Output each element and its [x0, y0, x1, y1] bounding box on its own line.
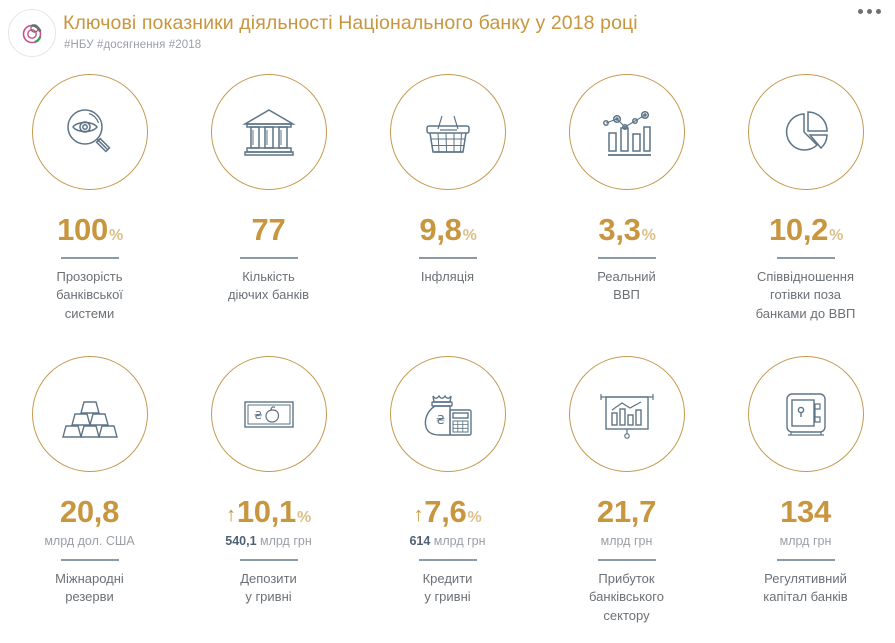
metric-card-inflation: 9,8 % Інфляція — [358, 74, 537, 323]
percent-sign: % — [467, 510, 481, 526]
money-bag-calculator-icon: ₴ — [390, 356, 506, 472]
divider — [61, 257, 119, 259]
metric-card-deposits: ₴ ↑ 10,1 % 540,1 млрд грн Депозити у гри… — [179, 356, 358, 625]
percent-sign: % — [297, 510, 311, 526]
metrics-row-1: 100 % Прозорість банківської системи 77 — [0, 74, 895, 323]
svg-text:₴: ₴ — [254, 409, 263, 422]
value-number: 100 — [57, 214, 108, 245]
banknote-hryvnia-icon: ₴ — [211, 356, 327, 472]
metric-value: 134 — [779, 496, 832, 527]
metric-value: 100 % — [56, 214, 123, 245]
value-number: 10,2 — [769, 214, 828, 245]
shopping-basket-icon — [390, 74, 506, 190]
more-options-icon[interactable] — [858, 9, 881, 14]
bank-building-icon — [211, 74, 327, 190]
metric-card-regulatory-capital: 134 млрд грн Регулятивний капітал банків — [716, 356, 895, 625]
value-number: 10,1 — [237, 496, 296, 527]
unit-text: млрд грн — [430, 534, 485, 548]
metric-card-banks-count: 77 Кількість діючих банків — [179, 74, 358, 323]
value-number: 9,8 — [419, 214, 461, 245]
nbu-logo — [8, 9, 56, 57]
unit-text: млрд дол. США — [44, 534, 134, 548]
metric-label: Кредити у гривні — [423, 570, 473, 607]
divider — [240, 559, 298, 561]
value-number: 134 — [780, 496, 831, 527]
unit-emphasis: 614 — [409, 534, 430, 548]
metric-card-cash-to-gdp: 10,2 % Співвідношення готівки поза банка… — [716, 74, 895, 323]
divider — [598, 257, 656, 259]
metric-card-credits: ₴ ↑ 7,6 % 614 млрд грн Кредити у гривні — [358, 356, 537, 625]
percent-sign: % — [829, 228, 843, 244]
value-number: 20,8 — [60, 496, 119, 527]
metric-label: Співвідношення готівки поза банками до В… — [756, 268, 856, 323]
divider — [777, 559, 835, 561]
metric-value: ↑ 10,1 % — [226, 496, 311, 527]
metric-value: ↑ 7,6 % — [414, 496, 482, 527]
metric-card-real-gdp: 3,3 % Реальний ВВП — [537, 74, 716, 323]
value-number: 21,7 — [597, 496, 656, 527]
unit-text: млрд грн — [257, 534, 312, 548]
metric-value: 20,8 — [59, 496, 120, 527]
pie-chart-icon — [748, 74, 864, 190]
metric-value: 21,7 — [596, 496, 657, 527]
metric-card-bank-profit: 21,7 млрд грн Прибуток банківського сект… — [537, 356, 716, 625]
metric-label: Кількість діючих банків — [228, 268, 309, 305]
divider — [240, 257, 298, 259]
metric-label: Прозорість банківської системи — [56, 268, 123, 323]
metric-label: Регулятивний капітал банків — [763, 570, 847, 607]
value-number: 7,6 — [424, 496, 466, 527]
unit-text: млрд грн — [601, 534, 653, 548]
metric-value: 9,8 % — [418, 214, 476, 245]
trend-arrow: ↑ — [226, 505, 236, 525]
metric-card-reserves: 20,8 млрд дол. США Міжнародні резерви — [0, 356, 179, 625]
metric-label: Реальний ВВП — [597, 268, 656, 305]
value-number: 77 — [252, 214, 286, 245]
metric-unit: млрд грн — [601, 534, 653, 550]
safe-vault-icon — [748, 356, 864, 472]
percent-sign: % — [463, 228, 477, 244]
metric-unit: 540,1 млрд грн — [225, 534, 312, 550]
page-header: Ключові показники діяльності Національно… — [0, 0, 895, 66]
trend-arrow: ↑ — [414, 505, 424, 525]
metric-unit: 614 млрд грн — [409, 534, 485, 550]
metric-label: Міжнародні резерви — [55, 570, 124, 607]
magnifier-eye-icon — [32, 74, 148, 190]
unit-emphasis: 540,1 — [225, 534, 256, 548]
metric-label: Депозити у гривні — [240, 570, 297, 607]
metric-value: 3,3 % — [597, 214, 655, 245]
metric-value: 10,2 % — [768, 214, 843, 245]
svg-text:₴: ₴ — [436, 413, 445, 427]
metric-value: 77 — [251, 214, 287, 245]
gold-bars-icon — [32, 356, 148, 472]
presentation-chart-icon — [569, 356, 685, 472]
divider — [598, 559, 656, 561]
unit-text: млрд грн — [780, 534, 832, 548]
bar-chart-line-icon — [569, 74, 685, 190]
metric-unit: млрд дол. США — [44, 534, 134, 550]
metrics-row-2: 20,8 млрд дол. США Міжнародні резерви ₴ … — [0, 356, 895, 625]
value-number: 3,3 — [598, 214, 640, 245]
metric-unit: млрд грн — [780, 534, 832, 550]
metric-card-transparency: 100 % Прозорість банківської системи — [0, 74, 179, 323]
divider — [777, 257, 835, 259]
divider — [61, 559, 119, 561]
percent-sign: % — [642, 228, 656, 244]
percent-sign: % — [109, 228, 123, 244]
metric-label: Прибуток банківського сектору — [589, 570, 664, 625]
divider — [419, 559, 477, 561]
metric-label: Інфляція — [421, 268, 474, 286]
divider — [419, 257, 477, 259]
hashtags-subtitle: #НБУ #досягнення #2018 — [64, 39, 201, 51]
page-title: Ключові показники діяльності Національно… — [63, 12, 638, 35]
